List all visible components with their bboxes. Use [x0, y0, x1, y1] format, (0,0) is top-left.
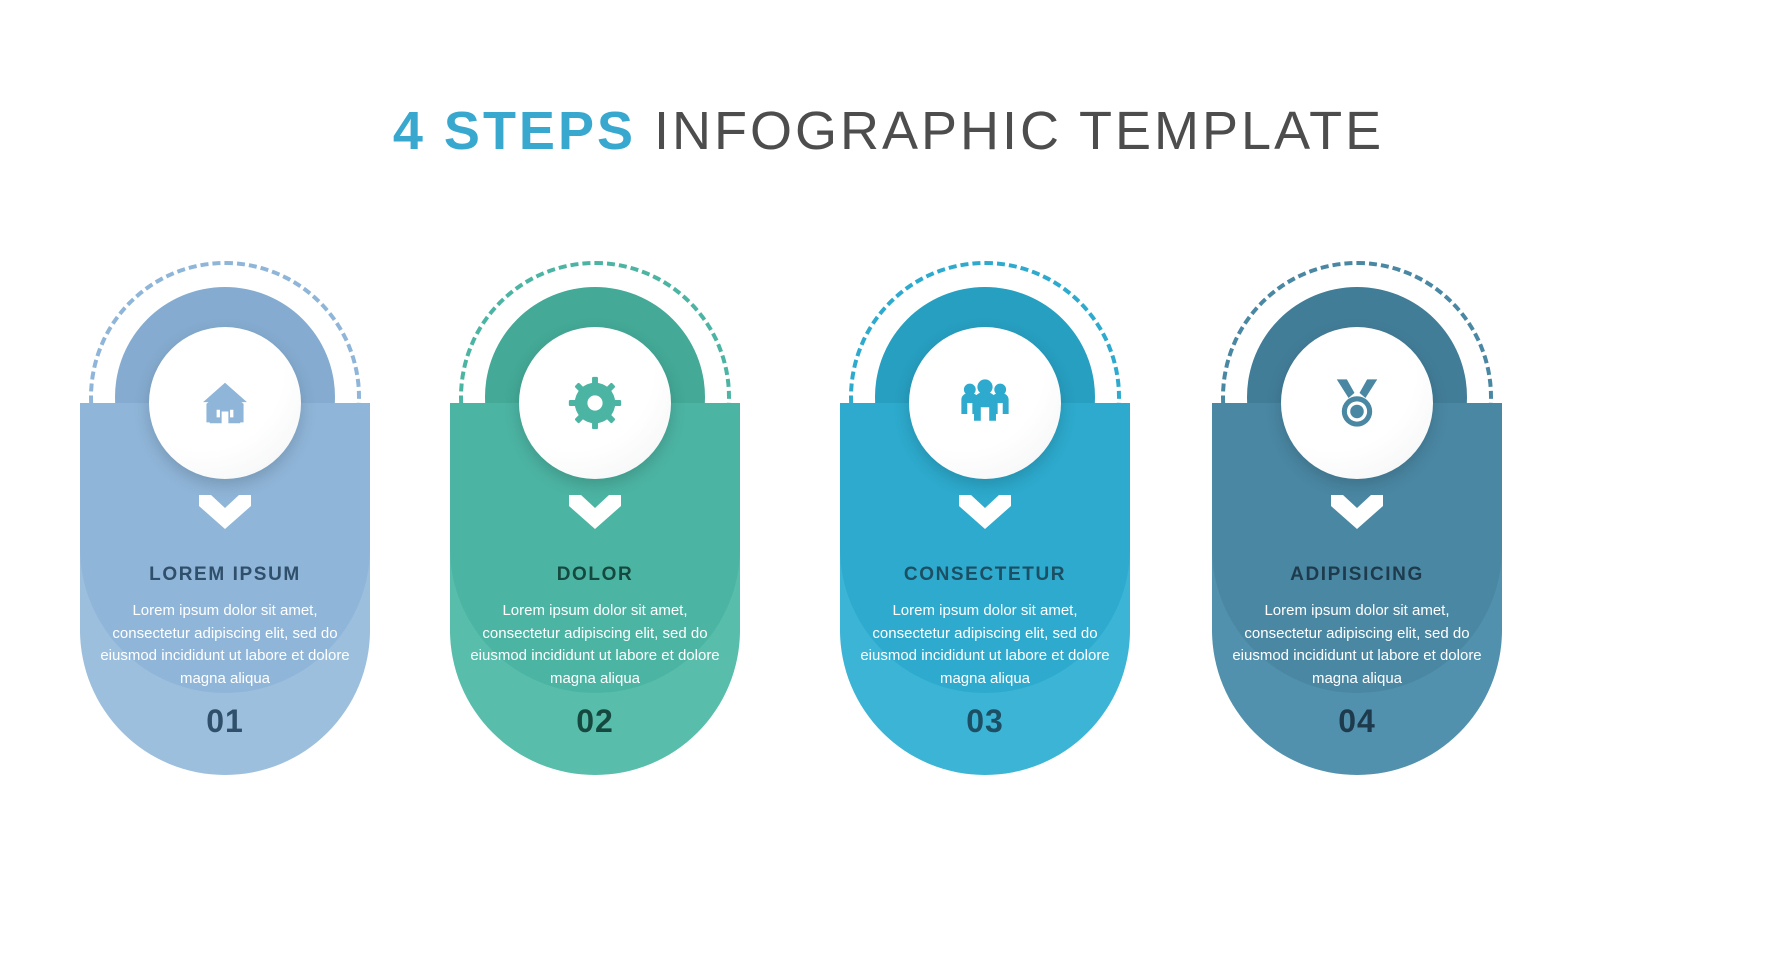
medal-icon [1330, 376, 1384, 430]
page-title: 4 STEPS INFOGRAPHIC TEMPLATE [0, 104, 1777, 158]
step-text-block: DOLORLorem ipsum dolor sit amet, consect… [450, 565, 740, 691]
chevron-down-icon [959, 495, 1011, 531]
step-description: Lorem ipsum dolor sit amet, consectetur … [1226, 600, 1488, 691]
step-icon-circle[interactable] [909, 327, 1061, 479]
step-card-03[interactable]: CONSECTETURLorem ipsum dolor sit amet, c… [840, 255, 1130, 775]
chevron-down-icon [569, 495, 621, 531]
step-description: Lorem ipsum dolor sit amet, consectetur … [94, 600, 356, 691]
step-icon-circle[interactable] [1281, 327, 1433, 479]
step-card-01[interactable]: LOREM IPSUMLorem ipsum dolor sit amet, c… [80, 255, 370, 775]
chevron-down-icon [199, 495, 251, 531]
step-title: DOLOR [464, 565, 726, 586]
gear-icon [568, 376, 622, 430]
home-icon [198, 376, 252, 430]
page-title-accent: 4 STEPS [393, 101, 636, 161]
step-text-block: LOREM IPSUMLorem ipsum dolor sit amet, c… [80, 565, 370, 691]
step-number: 04 [1212, 703, 1502, 740]
step-description: Lorem ipsum dolor sit amet, consectetur … [464, 600, 726, 691]
step-description: Lorem ipsum dolor sit amet, consectetur … [854, 600, 1116, 691]
steps-container: LOREM IPSUMLorem ipsum dolor sit amet, c… [80, 255, 1697, 775]
step-icon-circle[interactable] [519, 327, 671, 479]
step-card-02[interactable]: DOLORLorem ipsum dolor sit amet, consect… [450, 255, 740, 775]
step-number: 02 [450, 703, 740, 740]
step-number: 01 [80, 703, 370, 740]
page-title-rest: INFOGRAPHIC TEMPLATE [636, 101, 1384, 161]
step-text-block: ADIPISICINGLorem ipsum dolor sit amet, c… [1212, 565, 1502, 691]
step-icon-circle[interactable] [149, 327, 301, 479]
people-icon [958, 376, 1012, 430]
step-card-04[interactable]: ADIPISICINGLorem ipsum dolor sit amet, c… [1212, 255, 1502, 775]
step-title: CONSECTETUR [854, 565, 1116, 586]
step-number: 03 [840, 703, 1130, 740]
chevron-down-icon [1331, 495, 1383, 531]
step-title: ADIPISICING [1226, 565, 1488, 586]
step-title: LOREM IPSUM [94, 565, 356, 586]
step-text-block: CONSECTETURLorem ipsum dolor sit amet, c… [840, 565, 1130, 691]
infographic-page: 4 STEPS INFOGRAPHIC TEMPLATE LOREM IPSUM… [0, 0, 1777, 980]
